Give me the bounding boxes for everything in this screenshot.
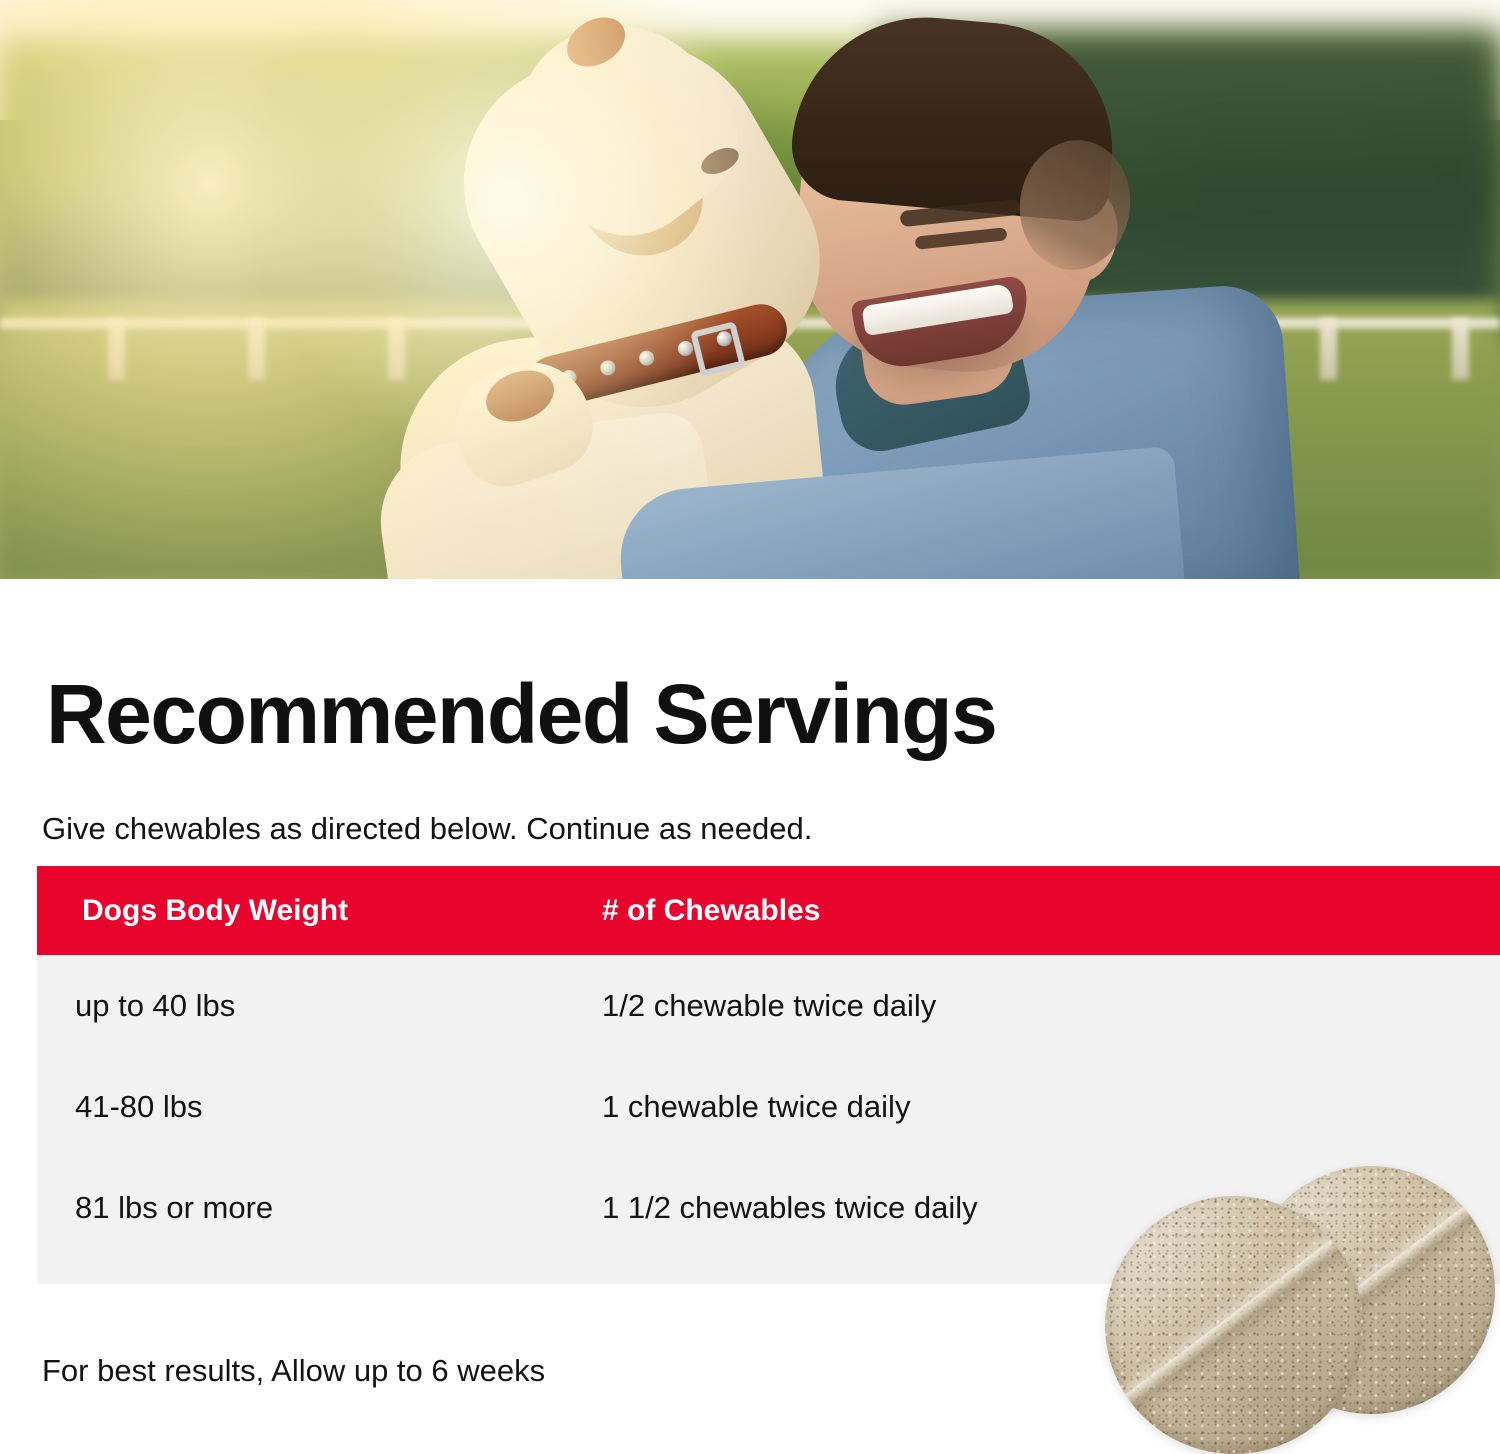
- cell-weight: 81 lbs or more: [75, 1190, 602, 1226]
- fence-post: [108, 318, 125, 380]
- fence-post: [388, 318, 405, 380]
- collar-stud: [599, 359, 617, 377]
- cell-weight: up to 40 lbs: [75, 988, 602, 1024]
- cell-dose: 1/2 chewable twice daily: [602, 988, 936, 1024]
- page-title: Recommended Servings: [46, 672, 996, 756]
- column-header-chewables: # of Chewables: [602, 894, 820, 928]
- chewable-tablet-front: [1105, 1196, 1363, 1454]
- footnote-text: For best results, Allow up to 6 weeks: [42, 1353, 545, 1389]
- page-subtitle: Give chewables as directed below. Contin…: [42, 811, 812, 847]
- hero-photo: [0, 0, 1500, 579]
- chewable-tablets-image: [1095, 1148, 1500, 1441]
- cell-dose: 1 1/2 chewables twice daily: [602, 1190, 978, 1226]
- table-row: 41-80 lbs 1 chewable twice daily: [37, 1056, 1500, 1157]
- cell-dose: 1 chewable twice daily: [602, 1089, 910, 1125]
- fence-post: [1452, 318, 1469, 380]
- column-header-weight: Dogs Body Weight: [82, 894, 602, 928]
- table-header-row: Dogs Body Weight # of Chewables: [37, 866, 1500, 955]
- fence-post: [1320, 318, 1337, 380]
- collar-stud: [638, 349, 656, 367]
- fence-post: [248, 318, 265, 380]
- table-row: up to 40 lbs 1/2 chewable twice daily: [37, 955, 1500, 1056]
- cell-weight: 41-80 lbs: [75, 1089, 602, 1125]
